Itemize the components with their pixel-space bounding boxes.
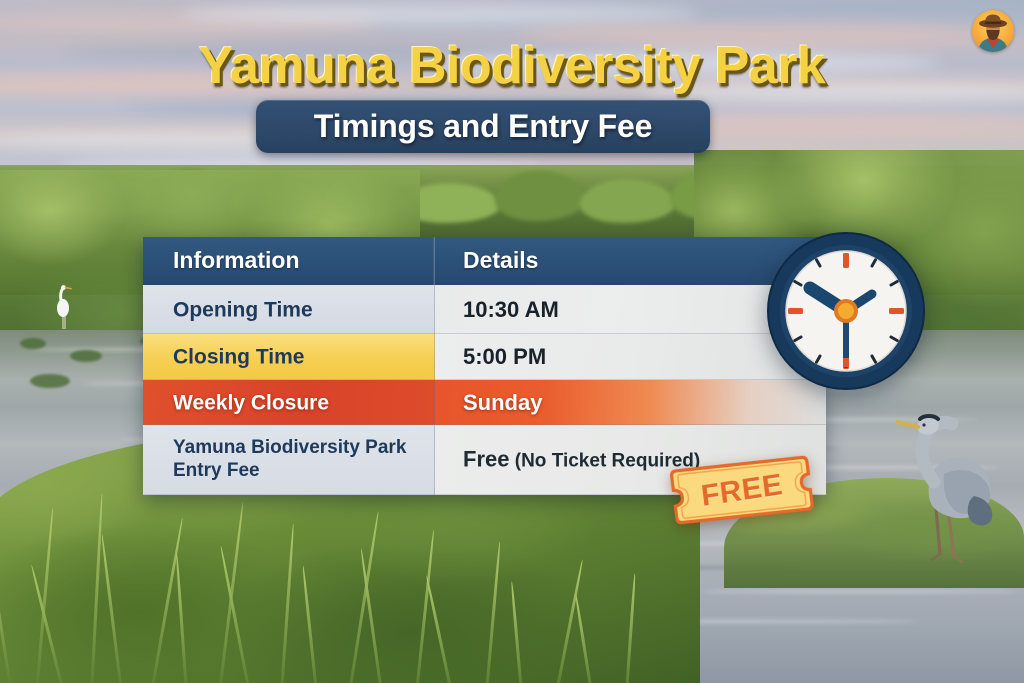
table-header-row: Information Details: [143, 237, 826, 285]
table-row: Opening Time 10:30 AM: [143, 285, 826, 334]
grey-heron-icon: [896, 404, 1008, 580]
row-label-cell: Opening Time: [143, 285, 435, 334]
row-value-closing-time: 5:00 PM: [463, 344, 546, 370]
entry-fee-strong: Free: [463, 447, 509, 472]
site-logo[interactable]: [972, 10, 1014, 52]
row-label-cell: Yamuna Biodiversity Park Entry Fee: [143, 425, 435, 495]
page-title: Yamuna Biodiversity Park: [0, 40, 1024, 92]
table-row: Weekly Closure Sunday: [143, 380, 826, 425]
table-row: Closing Time 5:00 PM: [143, 334, 826, 380]
column-header-information: Information: [173, 247, 300, 275]
row-label-opening-time: Opening Time: [173, 297, 313, 322]
subtitle-badge: Timings and Entry Fee: [256, 100, 710, 153]
subtitle-text: Timings and Entry Fee: [314, 108, 652, 145]
header-cell-information: Information: [143, 237, 435, 285]
row-label-cell: Weekly Closure: [143, 380, 435, 425]
row-value-weekly-closure: Sunday: [463, 389, 542, 415]
white-egret-icon: [52, 283, 74, 331]
row-value-opening-time: 10:30 AM: [463, 296, 559, 322]
timings-and-fee-table: Information Details Opening Time 10:30 A…: [143, 237, 826, 495]
row-label-closing-time: Closing Time: [173, 344, 304, 369]
explorer-with-hat-icon: [972, 10, 1014, 52]
column-header-details: Details: [463, 247, 538, 275]
row-label-cell: Closing Time: [143, 334, 435, 380]
row-label-entry-fee: Yamuna Biodiversity Park Entry Fee: [173, 437, 406, 483]
wall-clock-icon: [767, 232, 925, 390]
row-label-weekly-closure: Weekly Closure: [173, 390, 329, 415]
infographic-canvas: Yamuna Biodiversity Park Timings and Ent…: [0, 0, 1024, 683]
